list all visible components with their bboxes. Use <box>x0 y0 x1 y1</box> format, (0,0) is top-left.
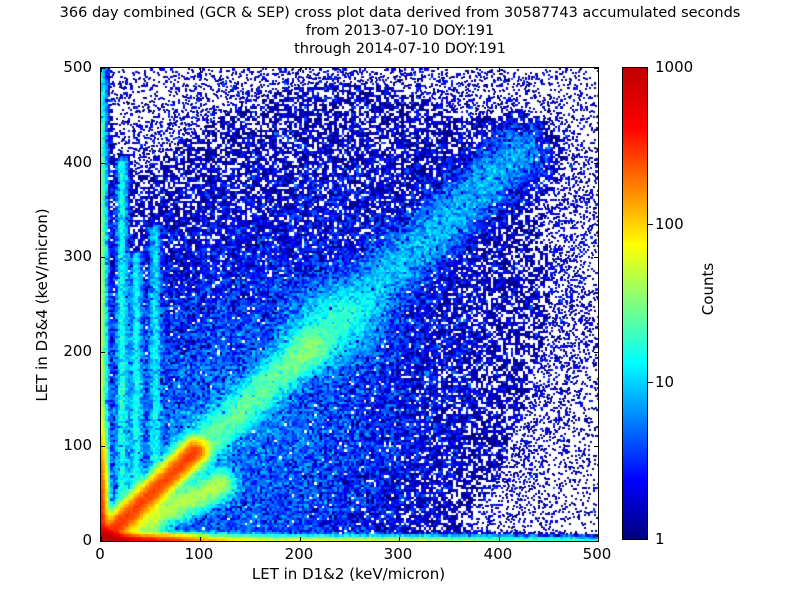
y-tick-right <box>594 163 598 164</box>
colorbar: 1101001000 <box>622 67 648 540</box>
colorbar-tick <box>648 382 653 383</box>
colorbar-tick-label: 10 <box>655 373 674 391</box>
colorbar-label: Counts <box>699 229 717 349</box>
y-tick <box>101 257 105 258</box>
y-tick-right <box>594 68 598 69</box>
y-tick <box>101 352 105 353</box>
y-tick-label: 500 <box>32 58 92 76</box>
x-tick <box>200 68 201 72</box>
x-tick-label: 300 <box>358 545 438 563</box>
x-tick-top <box>598 537 599 541</box>
x-tick-label: 400 <box>458 545 538 563</box>
y-tick-right <box>594 541 598 542</box>
plot-title: 366 day combined (GCR & SEP) cross plot … <box>0 4 800 58</box>
title-line-1: 366 day combined (GCR & SEP) cross plot … <box>0 4 800 22</box>
title-line-3: through 2014-07-10 DOY:191 <box>0 40 800 58</box>
x-tick <box>598 68 599 72</box>
x-tick-top <box>300 537 301 541</box>
x-tick <box>399 68 400 72</box>
colorbar-tick-label: 1000 <box>655 58 693 76</box>
x-tick-top <box>499 537 500 541</box>
x-tick <box>300 68 301 72</box>
y-tick-right <box>594 257 598 258</box>
y-tick-right <box>594 446 598 447</box>
y-tick-right <box>594 352 598 353</box>
x-tick-top <box>200 537 201 541</box>
title-line-2: from 2013-07-10 DOY:191 <box>0 22 800 40</box>
x-tick <box>499 68 500 72</box>
y-axis-label: LET in D3&4 (keV/micron) <box>33 145 51 465</box>
colorbar-tick-label: 1 <box>655 530 665 548</box>
x-axis-label: LET in D1&2 (keV/micron) <box>100 565 597 583</box>
x-tick-label: 100 <box>159 545 239 563</box>
y-tick <box>101 446 105 447</box>
colorbar-gradient <box>622 67 648 540</box>
colorbar-tick-label: 100 <box>655 215 684 233</box>
plot-area <box>100 67 599 542</box>
figure-canvas: 366 day combined (GCR & SEP) cross plot … <box>0 0 800 600</box>
x-tick-label: 500 <box>557 545 637 563</box>
x-tick-label: 200 <box>259 545 339 563</box>
y-tick <box>101 163 105 164</box>
y-tick <box>101 68 105 69</box>
density-scatter-plot <box>101 68 598 541</box>
y-tick-label: 0 <box>32 531 92 549</box>
colorbar-tick <box>648 224 653 225</box>
x-tick-top <box>399 537 400 541</box>
y-tick <box>101 541 105 542</box>
